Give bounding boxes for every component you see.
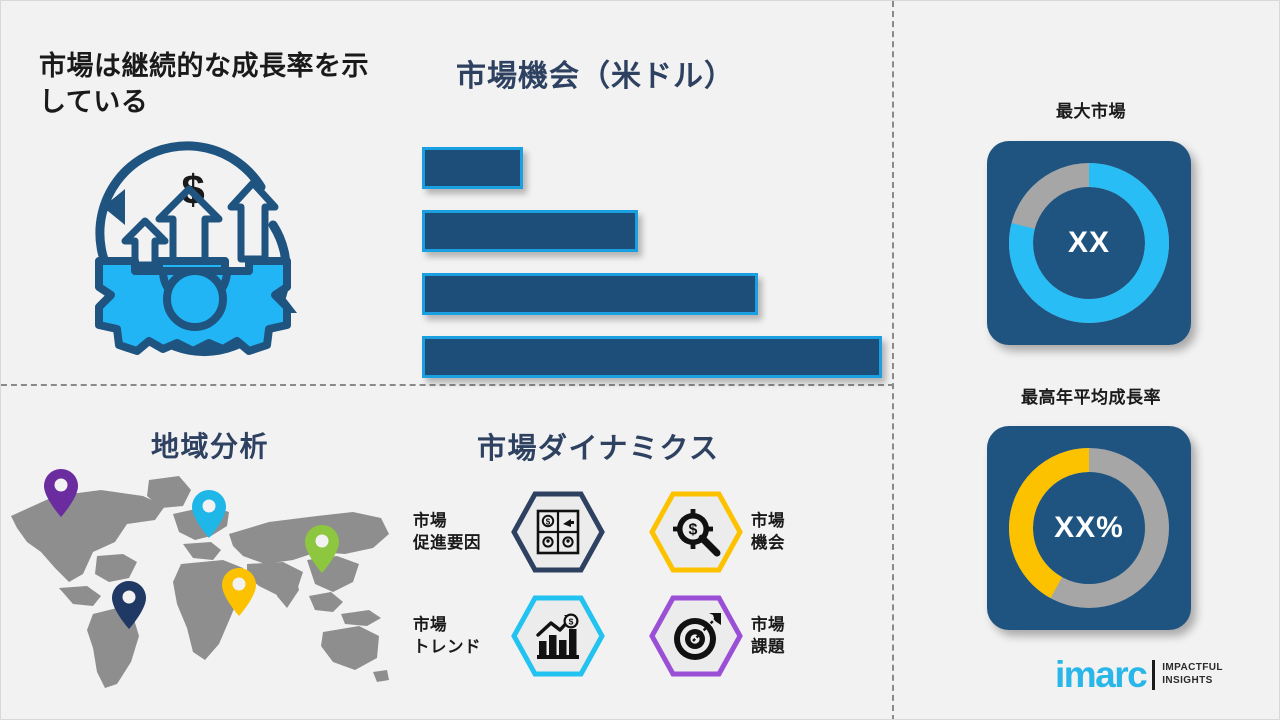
growth-title: 市場は継続的な成長率を示している: [39, 49, 389, 121]
logo-wordmark: imarc: [1055, 656, 1146, 693]
hex-trends: $: [511, 595, 605, 677]
dynamics-item-opportunities-label: 市場 機会: [751, 510, 843, 555]
largest-market-caption: 最大市場: [946, 97, 1236, 122]
bar-4: [422, 336, 882, 378]
dynamics-item-drivers[interactable]: 市場 促進要因 $: [413, 491, 605, 573]
pin-europe: [191, 488, 227, 545]
imarc-logo: imarc IMPACTFUL INSIGHTS: [1055, 656, 1223, 693]
opportunity-title: 市場機会（米ドル）: [456, 51, 856, 95]
dynamics-item-trends[interactable]: 市場 トレンド $: [413, 595, 605, 677]
bar-row: [422, 210, 882, 252]
dynamics-item-drivers-label: 市場 促進要因: [413, 510, 505, 555]
pin-south-america: [111, 579, 147, 636]
largest-market-value: XX: [987, 141, 1191, 345]
bar-2: [422, 210, 638, 252]
highest-cagr-value: XX%: [987, 426, 1191, 630]
bar-row: [422, 273, 882, 315]
hex-opportunities: $: [649, 491, 743, 573]
bar-row: [422, 336, 882, 378]
opportunity-bar-chart: [422, 147, 882, 353]
svg-text:$: $: [569, 617, 574, 627]
vertical-divider: [892, 1, 894, 720]
slide-canvas: 市場は継続的な成長率を示している $ 市場機会（米ドル）: [0, 0, 1280, 720]
hex-drivers: $: [511, 491, 605, 573]
growth-gear-dollar-cycle-icon: $: [73, 129, 313, 373]
dynamics-item-opportunities[interactable]: $ 市場 機会: [649, 491, 843, 573]
largest-market-donut: XX: [987, 141, 1191, 345]
logo-divider: [1152, 660, 1155, 690]
pin-north-america: [43, 467, 79, 524]
highest-cagr-caption: 最高年平均成長率: [946, 383, 1236, 408]
pin-east-asia: [304, 523, 340, 580]
pin-middle-east-africa: [221, 566, 257, 623]
hex-challenges: [649, 595, 743, 677]
horizontal-divider: [1, 384, 894, 386]
bar-1: [422, 147, 523, 189]
svg-text:$: $: [546, 517, 551, 526]
svg-text:$: $: [689, 522, 698, 539]
dynamics-item-challenges-label: 市場 課題: [751, 614, 843, 659]
logo-tagline: IMPACTFUL INSIGHTS: [1162, 662, 1223, 687]
dynamics-item-trends-label: 市場 トレンド: [413, 614, 505, 659]
bar-3: [422, 273, 758, 315]
dynamics-item-challenges[interactable]: 市場 課題: [649, 595, 843, 677]
bar-row: [422, 147, 882, 189]
dynamics-title: 市場ダイナミクス: [477, 425, 720, 467]
highest-cagr-donut: XX%: [987, 426, 1191, 630]
